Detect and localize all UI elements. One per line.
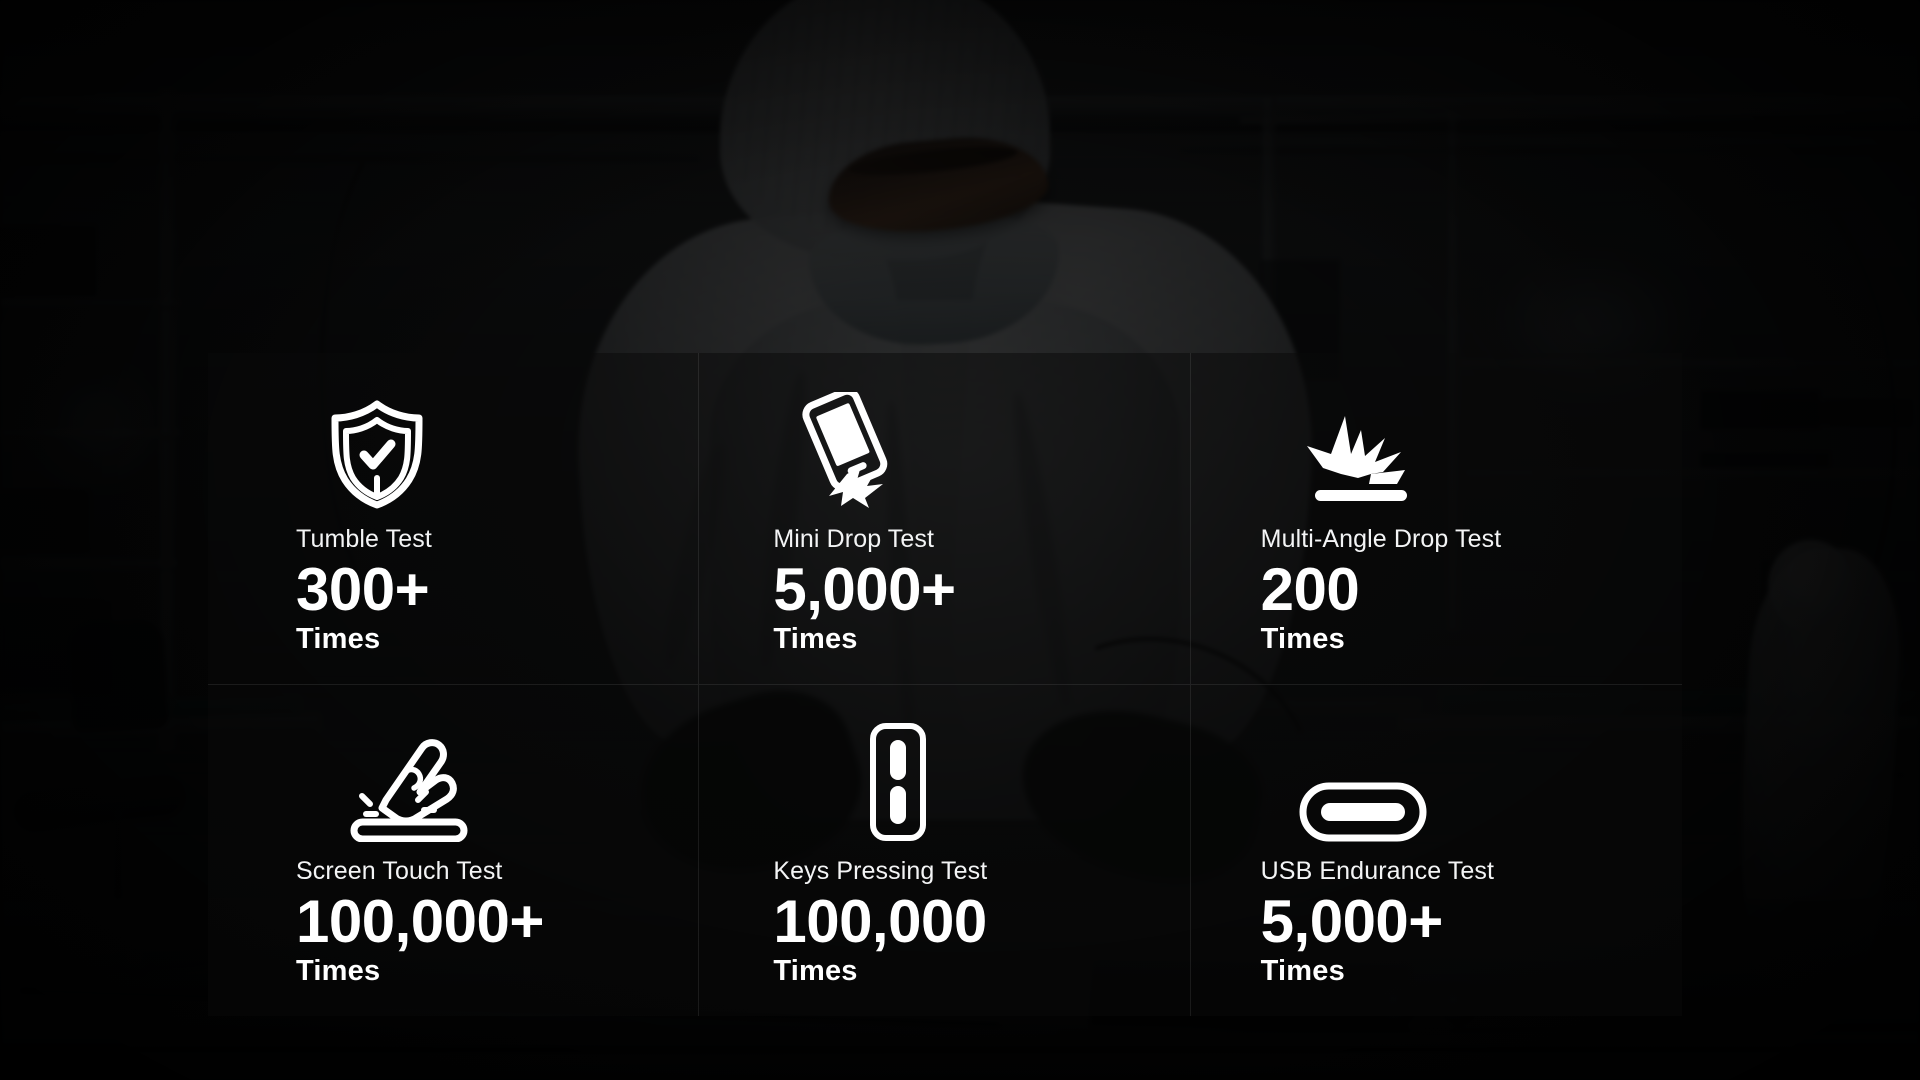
stat-label: Keys Pressing Test [773, 858, 1189, 886]
stat-unit: Times [773, 623, 1189, 656]
stat-number: 300+ [296, 558, 698, 621]
stat-cell-multi-angle-drop-test: Multi-Angle Drop Test 200 Times [1191, 353, 1682, 685]
stat-label: Multi-Angle Drop Test [1261, 526, 1682, 554]
stat-label: Tumble Test [296, 526, 698, 554]
stat-unit: Times [296, 955, 698, 988]
side-keys-button-icon [773, 718, 1189, 842]
usb-type-c-port-icon [1261, 718, 1682, 842]
stat-number: 5,000+ [773, 558, 1189, 621]
stat-unit: Times [1261, 955, 1682, 988]
stat-label: Screen Touch Test [296, 858, 698, 886]
stat-unit: Times [1261, 623, 1682, 656]
stat-number: 200 [1261, 558, 1682, 621]
stat-label: USB Endurance Test [1261, 858, 1682, 886]
stat-cell-usb-endurance-test: USB Endurance Test 5,000+ Times [1191, 685, 1682, 1017]
stat-label: Mini Drop Test [773, 526, 1189, 554]
stat-cell-screen-touch-test: Screen Touch Test 100,000+ Times [208, 685, 699, 1017]
stat-cell-keys-pressing-test: Keys Pressing Test 100,000 Times [699, 685, 1190, 1017]
stat-unit: Times [773, 955, 1189, 988]
multi-angle-impact-burst-icon [1261, 386, 1682, 510]
screenshot-stage: Tumble Test 300+ Times Mini Drop Test 5,… [0, 0, 1920, 1080]
durability-test-stats-panel: Tumble Test 300+ Times Mini Drop Test 5,… [208, 353, 1682, 1016]
stat-cell-tumble-test: Tumble Test 300+ Times [208, 353, 699, 685]
phone-drop-impact-icon [773, 386, 1189, 510]
stat-unit: Times [296, 623, 698, 656]
stat-number: 100,000+ [296, 890, 698, 953]
stat-number: 100,000 [773, 890, 1189, 953]
stat-cell-mini-drop-test: Mini Drop Test 5,000+ Times [699, 353, 1190, 685]
hand-touch-screen-icon [296, 718, 698, 842]
stat-number: 5,000+ [1261, 890, 1682, 953]
shield-check-icon [296, 386, 698, 510]
